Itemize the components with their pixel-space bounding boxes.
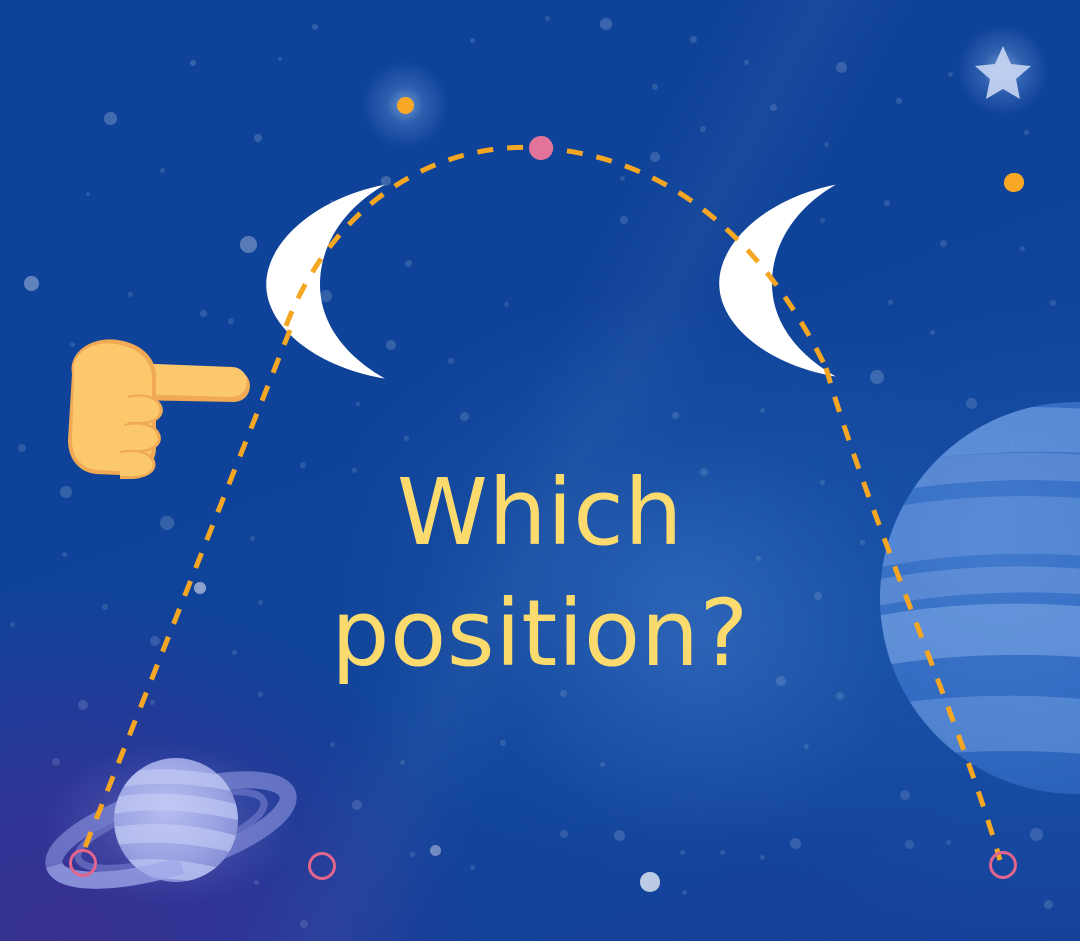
background-star: [760, 408, 765, 413]
background-star: [770, 104, 777, 111]
position-marker-left[interactable]: [69, 849, 97, 877]
background-star: [640, 872, 660, 892]
background-star: [150, 700, 155, 705]
background-star: [400, 760, 405, 765]
background-star: [430, 845, 441, 856]
background-star: [720, 850, 725, 855]
background-star: [804, 744, 809, 749]
orange-dot: [1004, 173, 1024, 192]
crescent-moon-left: [252, 180, 422, 400]
background-star: [620, 216, 628, 224]
background-star: [228, 318, 234, 324]
background-star: [940, 240, 947, 247]
position-marker-middle[interactable]: [308, 852, 336, 880]
background-star: [760, 855, 765, 860]
background-star: [905, 840, 914, 849]
background-star: [896, 98, 902, 104]
background-star: [682, 890, 687, 895]
background-star: [24, 276, 39, 291]
background-star: [86, 192, 90, 196]
background-star: [356, 402, 360, 406]
background-star: [500, 740, 506, 746]
background-star: [200, 310, 207, 317]
background-star: [600, 762, 605, 767]
pointing-hand-right-icon[interactable]: [52, 330, 252, 480]
space-scene: Which position?: [0, 0, 1080, 941]
background-star: [790, 838, 801, 849]
background-star: [160, 168, 165, 173]
background-star: [652, 84, 658, 90]
orange-glow-dot: [355, 55, 455, 155]
background-star: [352, 800, 362, 810]
background-star: [300, 920, 308, 928]
crescent-moon-right: [706, 180, 876, 400]
background-star: [78, 700, 88, 710]
background-star: [190, 60, 196, 66]
background-star: [946, 840, 951, 845]
background-star: [600, 18, 612, 30]
background-star: [1020, 246, 1025, 251]
page-title: Which position?: [0, 452, 1080, 695]
background-star: [460, 412, 469, 421]
background-star: [744, 60, 749, 65]
background-star: [1024, 130, 1029, 135]
background-star: [836, 62, 847, 73]
background-star: [448, 358, 454, 364]
background-star: [560, 830, 568, 838]
background-star: [1030, 828, 1043, 841]
background-star: [545, 16, 550, 21]
background-star: [614, 830, 625, 841]
background-star: [700, 126, 706, 132]
background-star: [410, 852, 415, 857]
background-star: [470, 38, 475, 43]
background-star: [690, 36, 697, 43]
background-star: [884, 200, 890, 206]
background-star: [470, 865, 475, 870]
ringed-planet: [40, 738, 302, 908]
apex-position-dot[interactable]: [529, 136, 553, 160]
background-star: [620, 176, 625, 181]
background-star: [254, 134, 262, 142]
background-star: [824, 142, 829, 147]
background-star: [1044, 900, 1053, 909]
background-star: [930, 330, 935, 335]
background-star: [330, 742, 335, 747]
background-star: [504, 302, 509, 307]
background-star: [680, 850, 685, 855]
position-marker-right[interactable]: [989, 851, 1017, 879]
background-star: [312, 24, 318, 30]
background-star: [404, 436, 409, 441]
background-star: [104, 112, 117, 125]
background-star: [18, 444, 26, 452]
background-star: [128, 292, 133, 297]
glowing-star-icon: [953, 20, 1053, 120]
background-star: [672, 412, 679, 419]
background-star: [888, 300, 893, 305]
background-star: [278, 57, 282, 61]
background-star: [650, 152, 660, 162]
background-star: [1050, 300, 1056, 306]
